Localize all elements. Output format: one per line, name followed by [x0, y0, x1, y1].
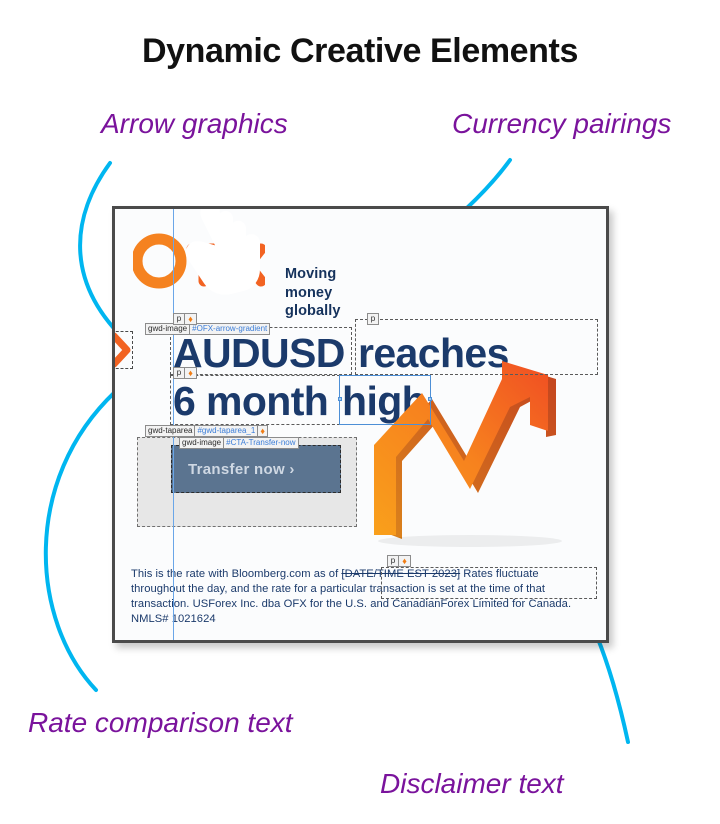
- p-tag-badge-headline-1[interactable]: p: [173, 313, 185, 325]
- gwd-image-cta-tag[interactable]: gwd-image #CTA-Transfer-now: [179, 437, 299, 449]
- tagline-line-1: Moving money: [285, 266, 336, 301]
- gem-tag-badge-headline-1[interactable]: ♦: [185, 313, 197, 325]
- slide-canvas: Dynamic Creative Elements Arrow graphics…: [0, 0, 720, 824]
- tag-id-label: #gwd-taparea_1: [195, 425, 258, 437]
- mini-chevron-arrow-graphic[interactable]: [112, 331, 133, 369]
- gem-tag-badge-headline-3[interactable]: ♦: [185, 367, 197, 379]
- resize-handle-left[interactable]: [338, 397, 342, 401]
- selection-box-line1-right: [355, 319, 598, 375]
- tag-type-label: gwd-taparea: [145, 425, 195, 437]
- tag-type-label: gwd-image: [179, 437, 224, 449]
- connector-rate-comparison: [46, 392, 115, 690]
- callout-currency-pairings: Currency pairings: [452, 108, 671, 140]
- cta-label: Transfer now ›: [188, 461, 295, 478]
- hand-cursor-icon: [177, 206, 263, 295]
- selection-box-line2-left: [170, 375, 340, 425]
- gwd-image-arrow-gradient-tag[interactable]: gwd-image #OFX-arrow-gradient: [145, 323, 270, 335]
- tag-gem-icon[interactable]: ♦: [258, 425, 268, 437]
- tag-id-label: #CTA-Transfer-now: [224, 437, 298, 449]
- gem-tag-badge-disclaimer[interactable]: ♦: [399, 555, 411, 567]
- p-tag-badge-headline-3[interactable]: p: [173, 367, 185, 379]
- callout-arrow-graphics: Arrow graphics: [101, 108, 288, 140]
- resize-handle-right[interactable]: [428, 397, 432, 401]
- tagline-line-2: globally: [285, 303, 341, 319]
- cta-transfer-now-button[interactable]: Transfer now ›: [171, 445, 341, 493]
- gwd-taparea-tag[interactable]: gwd-taparea #gwd-taparea_1 ♦: [145, 425, 268, 437]
- callout-rate-comparison: Rate comparison text: [28, 707, 293, 739]
- brand-tagline: Moving money globally: [285, 265, 341, 321]
- ad-creative-canvas[interactable]: Moving money globally: [112, 206, 609, 643]
- p-tag-badge-headline-2[interactable]: p: [367, 313, 379, 325]
- callout-disclaimer: Disclaimer text: [380, 768, 564, 800]
- page-title: Dynamic Creative Elements: [0, 32, 720, 71]
- selection-box-high[interactable]: [339, 375, 431, 425]
- p-tag-badge-disclaimer[interactable]: p: [387, 555, 399, 567]
- connector-disclaimer: [596, 634, 628, 742]
- disclaimer-part-1: This is the rate with Bloomberg.com as o…: [131, 568, 341, 580]
- tag-id-label: #OFX-arrow-gradient: [190, 323, 270, 335]
- selection-box-disclaimer: [381, 567, 597, 599]
